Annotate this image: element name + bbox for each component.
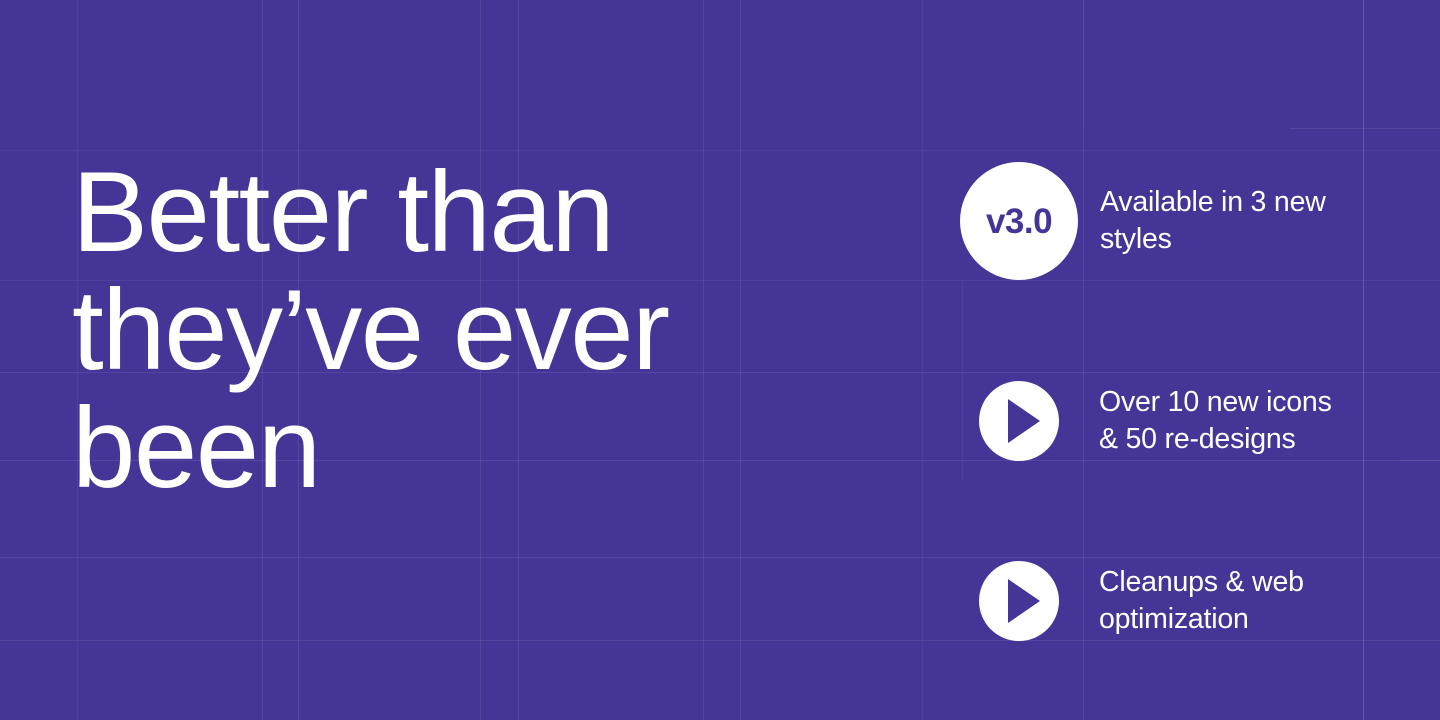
- play-triangle-icon: [1008, 579, 1040, 623]
- feature-label: Available in 3 new styles: [1100, 184, 1400, 258]
- page-title: Better than they’ve ever been: [72, 154, 832, 508]
- grid-segment: [1400, 460, 1440, 461]
- grid-segment: [1083, 0, 1084, 128]
- version-badge-label: v3.0: [986, 204, 1052, 239]
- play-icon[interactable]: [979, 381, 1059, 461]
- feature-label: Over 10 new icons & 50 re-designs: [1099, 384, 1399, 458]
- version-badge: v3.0: [960, 162, 1078, 280]
- feature-label: Cleanups & web optimization: [1099, 564, 1399, 638]
- promo-banner: Better than they’ve ever been v3.0 Avail…: [0, 0, 1440, 720]
- feature-item-cleanups[interactable]: Cleanups & web optimization: [960, 561, 1399, 641]
- play-icon[interactable]: [979, 561, 1059, 641]
- play-triangle-icon: [1008, 399, 1040, 443]
- grid-vline: [922, 0, 923, 720]
- feature-item-version: v3.0 Available in 3 new styles: [960, 162, 1400, 280]
- grid-segment: [1290, 128, 1440, 129]
- feature-item-icons[interactable]: Over 10 new icons & 50 re-designs: [960, 381, 1399, 461]
- grid-hline: [0, 557, 1440, 558]
